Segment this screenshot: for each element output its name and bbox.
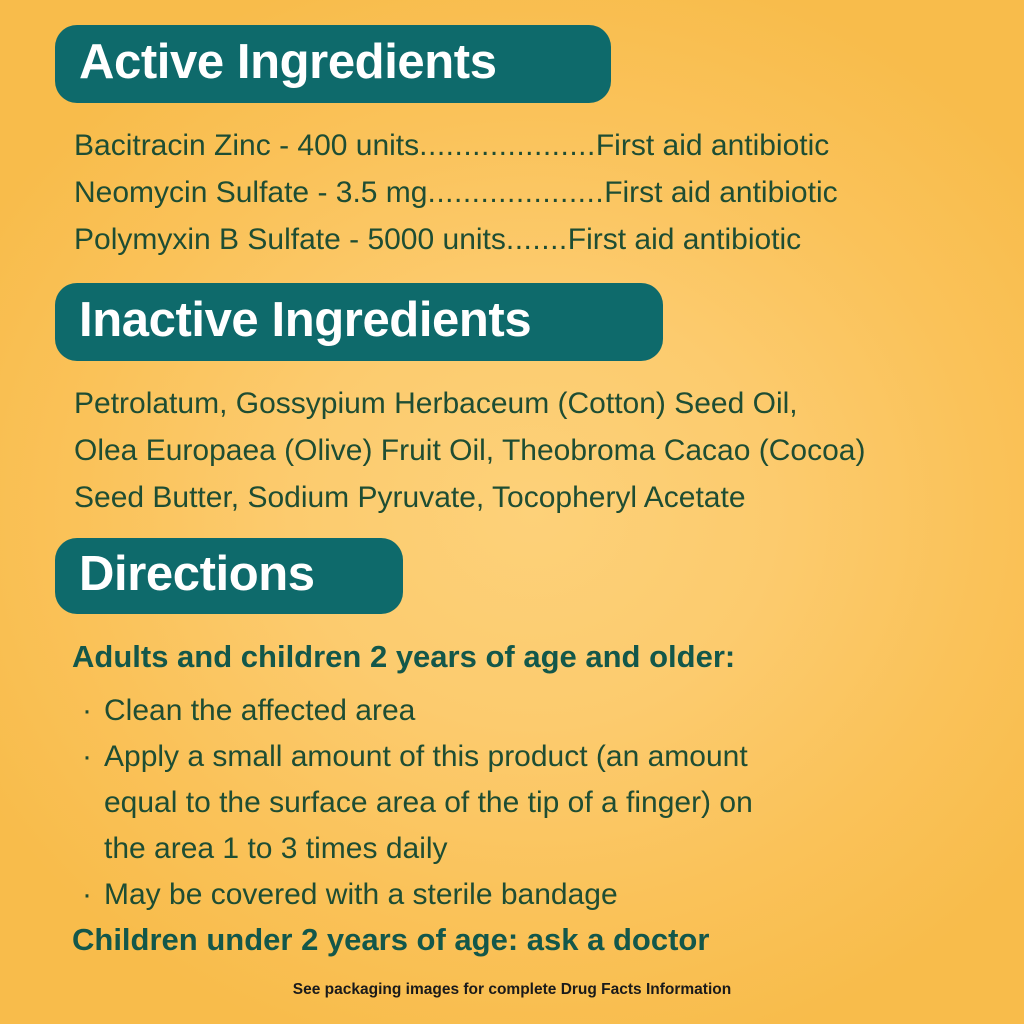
- section-badge-label: Inactive Ingredients: [79, 296, 531, 345]
- bullet-marker-icon: ·: [82, 734, 100, 780]
- dot-leader: ....................: [427, 178, 604, 208]
- dot-leader: .......: [506, 225, 568, 255]
- active-ingredient-row: Bacitracin Zinc - 400 units ............…: [74, 131, 924, 161]
- directions-bullet: · Apply a small amount of this product (…: [82, 734, 962, 872]
- section-badge-label: Active Ingredients: [79, 38, 497, 87]
- drug-facts-panel: Active Ingredients Bacitracin Zinc - 400…: [0, 0, 1024, 1024]
- active-ingredient-row: Polymyxin B Sulfate - 5000 units .......…: [74, 225, 924, 255]
- bullet-marker-icon: ·: [82, 688, 100, 734]
- active-ingredient-purpose: First aid antibiotic: [568, 225, 801, 255]
- inactive-ingredients-line: Seed Butter, Sodium Pyruvate, Tocopheryl…: [74, 483, 746, 513]
- active-ingredient-name: Neomycin Sulfate - 3.5 mg: [74, 178, 427, 208]
- directions-bullet-text: the area 1 to 3 times daily: [104, 826, 962, 872]
- active-ingredient-name: Bacitracin Zinc - 400 units: [74, 131, 419, 161]
- active-ingredient-row: Neomycin Sulfate - 3.5 mg ..............…: [74, 178, 924, 208]
- bullet-marker-icon: ·: [82, 872, 100, 918]
- section-badge-directions: Directions: [55, 538, 403, 614]
- inactive-ingredients-line: Olea Europaea (Olive) Fruit Oil, Theobro…: [74, 436, 865, 466]
- section-badge-active-ingredients: Active Ingredients: [55, 25, 611, 103]
- section-badge-inactive-ingredients: Inactive Ingredients: [55, 283, 663, 361]
- directions-bullet: · Clean the affected area: [82, 688, 962, 734]
- directions-bullet-text: Clean the affected area: [104, 688, 962, 734]
- dot-leader: ....................: [419, 131, 596, 161]
- directions-bullet-text: equal to the surface area of the tip of …: [104, 780, 962, 826]
- section-badge-label: Directions: [79, 550, 315, 599]
- active-ingredient-purpose: First aid antibiotic: [596, 131, 829, 161]
- directions-bullet-text: Apply a small amount of this product (an…: [104, 734, 962, 780]
- directions-bullet-text: May be covered with a sterile bandage: [104, 872, 962, 918]
- directions-age-heading: Adults and children 2 years of age and o…: [72, 641, 735, 672]
- inactive-ingredients-line: Petrolatum, Gossypium Herbaceum (Cotton)…: [74, 389, 798, 419]
- directions-bullet: · May be covered with a sterile bandage: [82, 872, 962, 918]
- active-ingredient-name: Polymyxin B Sulfate - 5000 units: [74, 225, 506, 255]
- directions-children-heading: Children under 2 years of age: ask a doc…: [72, 924, 709, 955]
- packaging-note: See packaging images for complete Drug F…: [0, 982, 1024, 998]
- active-ingredient-purpose: First aid antibiotic: [604, 178, 837, 208]
